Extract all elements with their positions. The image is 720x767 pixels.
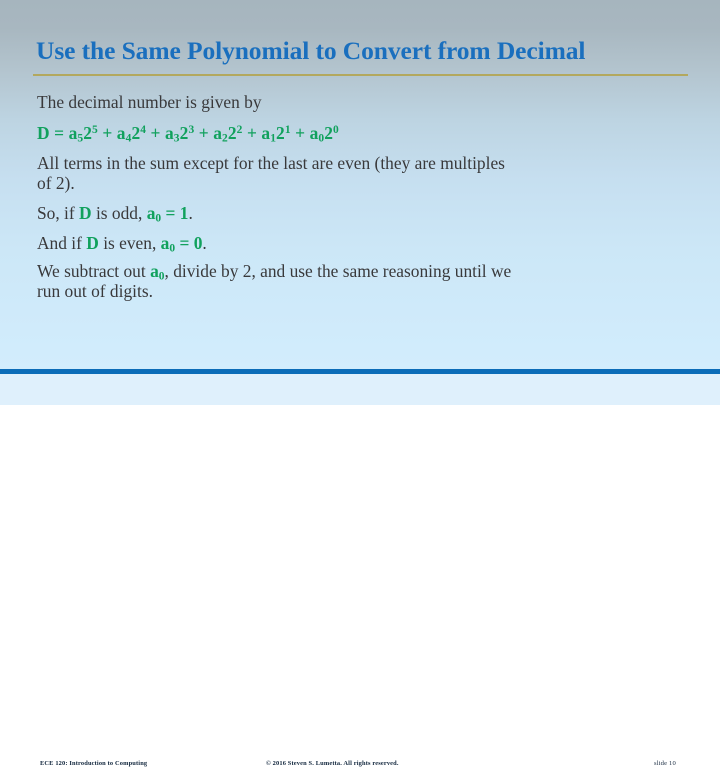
footer-band: ECE 120: Introduction to Computing © 201… <box>0 374 720 405</box>
formula-operator-4: + <box>295 123 305 143</box>
formula-lhs: D <box>37 123 50 143</box>
even-case-equals: = <box>175 233 194 253</box>
formula-operator-1: + <box>151 123 161 143</box>
even-case-middle: is even, <box>99 233 161 253</box>
formula-term-2: a323 <box>165 123 194 143</box>
footer-course-label: ECE 120: Introduction to Computing <box>40 760 147 767</box>
footer-slide-number: slide 10 <box>654 760 676 767</box>
slide-title: Use the Same Polynomial to Convert from … <box>36 36 696 66</box>
odd-case-var-d: D <box>79 203 92 223</box>
algorithm-prefix: We subtract out <box>37 261 150 281</box>
body-paragraph-intro: The decimal number is given by <box>37 92 517 113</box>
slide-body: The decimal number is given by D = a525 … <box>37 92 517 311</box>
even-case-var-a0: a0 <box>161 233 175 253</box>
even-case-suffix: . <box>202 233 206 253</box>
odd-case-var-a0: a0 <box>147 203 161 223</box>
odd-case-prefix: So, if <box>37 203 79 223</box>
title-divider-rule <box>33 74 688 76</box>
formula-term-0: a525 <box>69 123 98 143</box>
formula-operator-2: + <box>199 123 209 143</box>
footer-copyright-label: © 2016 Steven S. Lumetta. All rights res… <box>266 760 399 767</box>
formula-term-1: a424 <box>117 123 146 143</box>
odd-case-middle: is odd, <box>92 203 147 223</box>
polynomial-formula: D = a525 + a424 + a323 + a222 + a121 + a… <box>37 123 517 144</box>
formula-term-4: a121 <box>261 123 290 143</box>
formula-operator-0: + <box>102 123 112 143</box>
slide-canvas: Use the Same Polynomial to Convert from … <box>0 0 720 405</box>
odd-case-suffix: . <box>188 203 192 223</box>
body-paragraph-algorithm: We subtract out a0, divide by 2, and use… <box>37 262 517 301</box>
body-paragraph-odd-case: So, if D is odd, a0 = 1. <box>37 203 517 224</box>
formula-term-5: a020 <box>310 123 339 143</box>
formula-term-3: a222 <box>213 123 242 143</box>
even-case-var-d: D <box>86 233 99 253</box>
even-case-prefix: And if <box>37 233 86 253</box>
formula-operator-3: + <box>247 123 257 143</box>
body-paragraph-even-case: And if D is even, a0 = 0. <box>37 233 517 254</box>
body-paragraph-even-terms: All terms in the sum except for the last… <box>37 154 517 193</box>
odd-case-equals: = <box>161 203 180 223</box>
algorithm-var-a0: a0 <box>150 261 164 281</box>
formula-equals: = <box>54 123 64 143</box>
